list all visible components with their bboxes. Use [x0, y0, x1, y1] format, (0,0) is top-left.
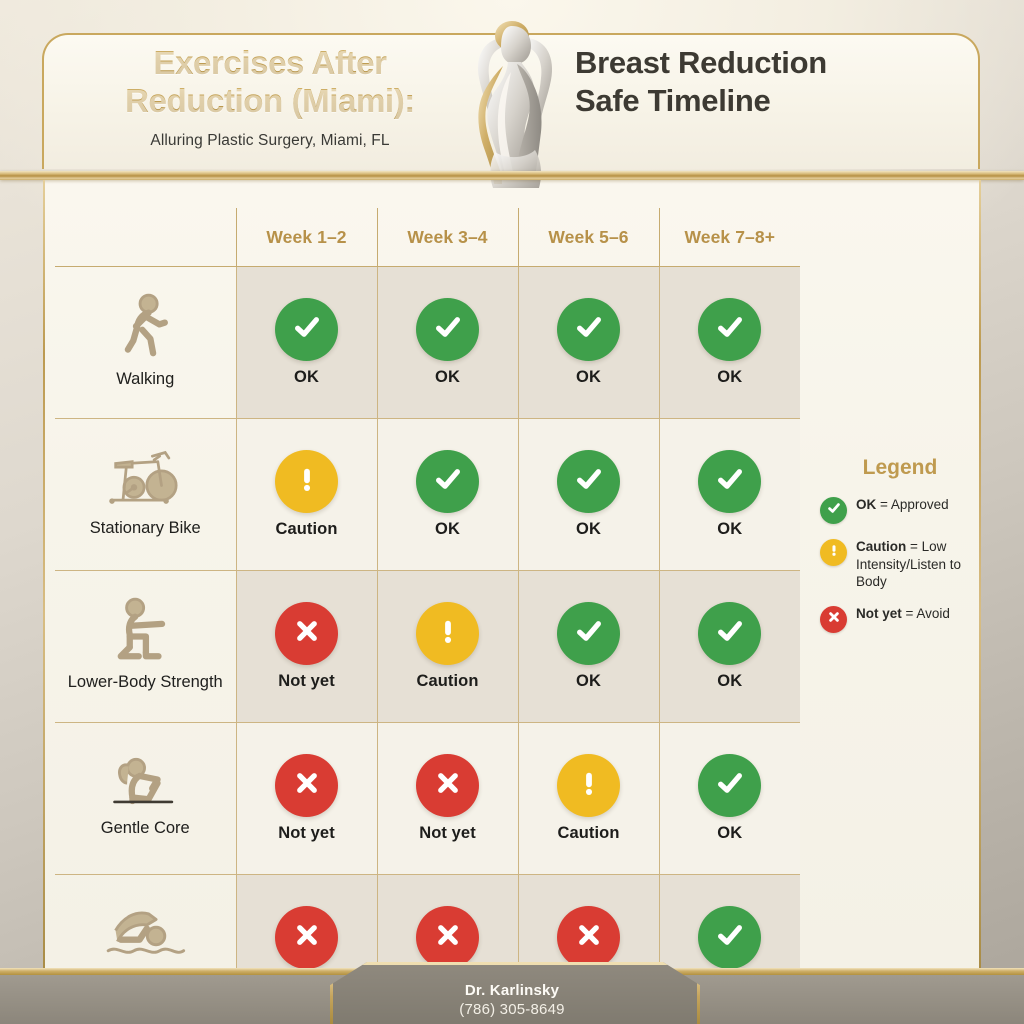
column-header-week-7-8: Week 7–8+: [659, 208, 800, 267]
check-icon: [290, 310, 324, 349]
status-cell: Not yet: [236, 571, 377, 723]
check-icon: [826, 500, 842, 521]
legend-term: Not yet: [856, 606, 902, 621]
status-cell: OK: [518, 267, 659, 419]
status-badge-ok: [698, 298, 761, 361]
status-label: OK: [379, 520, 517, 539]
status-badge-ok: [698, 906, 761, 969]
status-label: Not yet: [379, 824, 517, 843]
exercise-timeline-table: Week 1–2 Week 3–4 Week 5–6 Week 7–8+ Wal…: [55, 208, 800, 1024]
exercise-label: Stationary Bike: [61, 519, 230, 538]
legend-badge-no: [820, 606, 847, 633]
exercise-row-label-cell: Gentle Core: [55, 723, 236, 875]
check-icon: [431, 462, 465, 501]
cross-icon: [431, 918, 465, 957]
legend-item: OK = Approved: [820, 496, 980, 524]
column-header-week-5-6: Week 5–6: [518, 208, 659, 267]
status-label: OK: [661, 824, 800, 843]
status-label: Caution: [379, 672, 517, 691]
status-label: OK: [520, 672, 658, 691]
table-corner-header: [55, 208, 236, 267]
status-badge-ok: [275, 298, 338, 361]
status-badge-no: [416, 754, 479, 817]
cross-icon: [290, 918, 324, 957]
status-cell: Caution: [236, 419, 377, 571]
status-badge-ok: [416, 298, 479, 361]
cross-icon: [290, 766, 324, 805]
status-label: Caution: [520, 824, 658, 843]
legend-item: Caution = Low Intensity/Listen to Body: [820, 538, 980, 591]
status-badge-no: [275, 602, 338, 665]
page-title-line1: Exercises After: [60, 44, 480, 82]
legend-item: Not yet = Avoid: [820, 605, 980, 633]
table-header-row: Week 1–2 Week 3–4 Week 5–6 Week 7–8+: [55, 208, 800, 267]
status-cell: OK: [659, 571, 800, 723]
status-label: OK: [520, 368, 658, 387]
footer-contact: Dr. Karlinsky (786) 305-8649: [330, 962, 694, 1024]
page-subtitle: Alluring Plastic Surgery, Miami, FL: [60, 132, 480, 150]
exercise-row-label-cell: Lower-Body Strength: [55, 571, 236, 723]
status-cell: OK: [236, 267, 377, 419]
legend-desc: = Approved: [876, 497, 948, 512]
status-label: OK: [661, 520, 800, 539]
table-body: WalkingOKOKOKOKStationary BikeCautionOKO…: [55, 267, 800, 1024]
legend-badge-caution: [820, 539, 847, 566]
status-badge-ok: [698, 450, 761, 513]
check-icon: [713, 310, 747, 349]
cross-icon: [290, 614, 324, 653]
infographic-canvas: Exercises After Reduction (Miami): Allur…: [0, 0, 1024, 1024]
exclamation-icon: [431, 614, 465, 653]
status-cell: Caution: [518, 723, 659, 875]
header-left-block: Exercises After Reduction (Miami): Allur…: [60, 44, 480, 150]
exercise-row-label-cell: Walking: [55, 267, 236, 419]
exercise-label: Gentle Core: [61, 819, 230, 838]
status-cell: OK: [518, 419, 659, 571]
gold-band-top: [0, 171, 1024, 180]
check-icon: [572, 614, 606, 653]
table-row: WalkingOKOKOKOK: [55, 267, 800, 419]
stationary-bike-icon: [61, 447, 230, 513]
status-cell: OK: [377, 419, 518, 571]
status-cell: Caution: [377, 571, 518, 723]
table-row: Lower-Body StrengthNot yetCautionOKOK: [55, 571, 800, 723]
status-badge-no: [275, 754, 338, 817]
status-badge-ok: [557, 450, 620, 513]
status-badge-caution: [557, 754, 620, 817]
cross-icon: [826, 609, 842, 630]
status-badge-no: [275, 906, 338, 969]
status-badge-ok: [698, 754, 761, 817]
situp-person-icon: [61, 755, 230, 813]
status-badge-no: [557, 906, 620, 969]
column-header-week-3-4: Week 3–4: [377, 208, 518, 267]
status-badge-caution: [416, 602, 479, 665]
check-icon: [431, 310, 465, 349]
status-cell: Not yet: [236, 723, 377, 875]
exclamation-icon: [290, 462, 324, 501]
legend-desc: = Avoid: [902, 606, 950, 621]
exercise-label: Lower-Body Strength: [61, 673, 230, 692]
status-badge-ok: [557, 602, 620, 665]
status-badge-ok: [416, 450, 479, 513]
legend-items: OK = ApprovedCaution = Low Intensity/Lis…: [820, 496, 980, 633]
legend-text: Caution = Low Intensity/Listen to Body: [856, 538, 980, 591]
legend: Legend OK = ApprovedCaution = Low Intens…: [820, 456, 980, 647]
check-icon: [713, 766, 747, 805]
header-right-block: Breast Reduction Safe Timeline: [575, 44, 955, 120]
status-label: OK: [661, 672, 800, 691]
check-icon: [572, 310, 606, 349]
status-cell: OK: [377, 267, 518, 419]
status-cell: OK: [518, 571, 659, 723]
female-silhouette-logo: [455, 2, 573, 188]
header-right-line1: Breast Reduction: [575, 44, 955, 82]
legend-title: Legend: [820, 456, 980, 480]
status-label: Not yet: [238, 672, 376, 691]
swimmer-icon: [61, 908, 230, 964]
status-badge-ok: [698, 602, 761, 665]
lunge-person-icon: [61, 597, 230, 667]
column-header-week-1-2: Week 1–2: [236, 208, 377, 267]
check-icon: [713, 614, 747, 653]
legend-badge-ok: [820, 497, 847, 524]
status-badge-no: [416, 906, 479, 969]
exclamation-icon: [826, 542, 842, 563]
table-row: Gentle CoreNot yetNot yetCautionOK: [55, 723, 800, 875]
status-label: Not yet: [238, 824, 376, 843]
status-label: OK: [379, 368, 517, 387]
check-icon: [572, 462, 606, 501]
doctor-phone[interactable]: (786) 305-8649: [459, 1001, 564, 1018]
status-label: Caution: [238, 520, 376, 539]
check-icon: [713, 462, 747, 501]
legend-term: OK: [856, 497, 876, 512]
status-label: OK: [520, 520, 658, 539]
status-badge-ok: [557, 298, 620, 361]
exercise-label: Walking: [61, 370, 230, 389]
status-label: OK: [238, 368, 376, 387]
table-row: Stationary BikeCautionOKOKOK: [55, 419, 800, 571]
exclamation-icon: [572, 766, 606, 805]
status-cell: OK: [659, 419, 800, 571]
status-badge-caution: [275, 450, 338, 513]
status-label: OK: [661, 368, 800, 387]
check-icon: [713, 918, 747, 957]
exercise-row-label-cell: Stationary Bike: [55, 419, 236, 571]
page-title-line2: Reduction (Miami):: [60, 82, 480, 120]
legend-text: Not yet = Avoid: [856, 605, 950, 623]
legend-text: OK = Approved: [856, 496, 949, 514]
status-cell: OK: [659, 267, 800, 419]
frame-line-left: [43, 180, 45, 970]
cross-icon: [572, 918, 606, 957]
status-cell: Not yet: [377, 723, 518, 875]
status-cell: OK: [659, 723, 800, 875]
walking-person-icon: [61, 292, 230, 364]
doctor-name: Dr. Karlinsky: [465, 982, 559, 999]
cross-icon: [431, 766, 465, 805]
header-right-line2: Safe Timeline: [575, 82, 955, 120]
legend-term: Caution: [856, 539, 906, 554]
